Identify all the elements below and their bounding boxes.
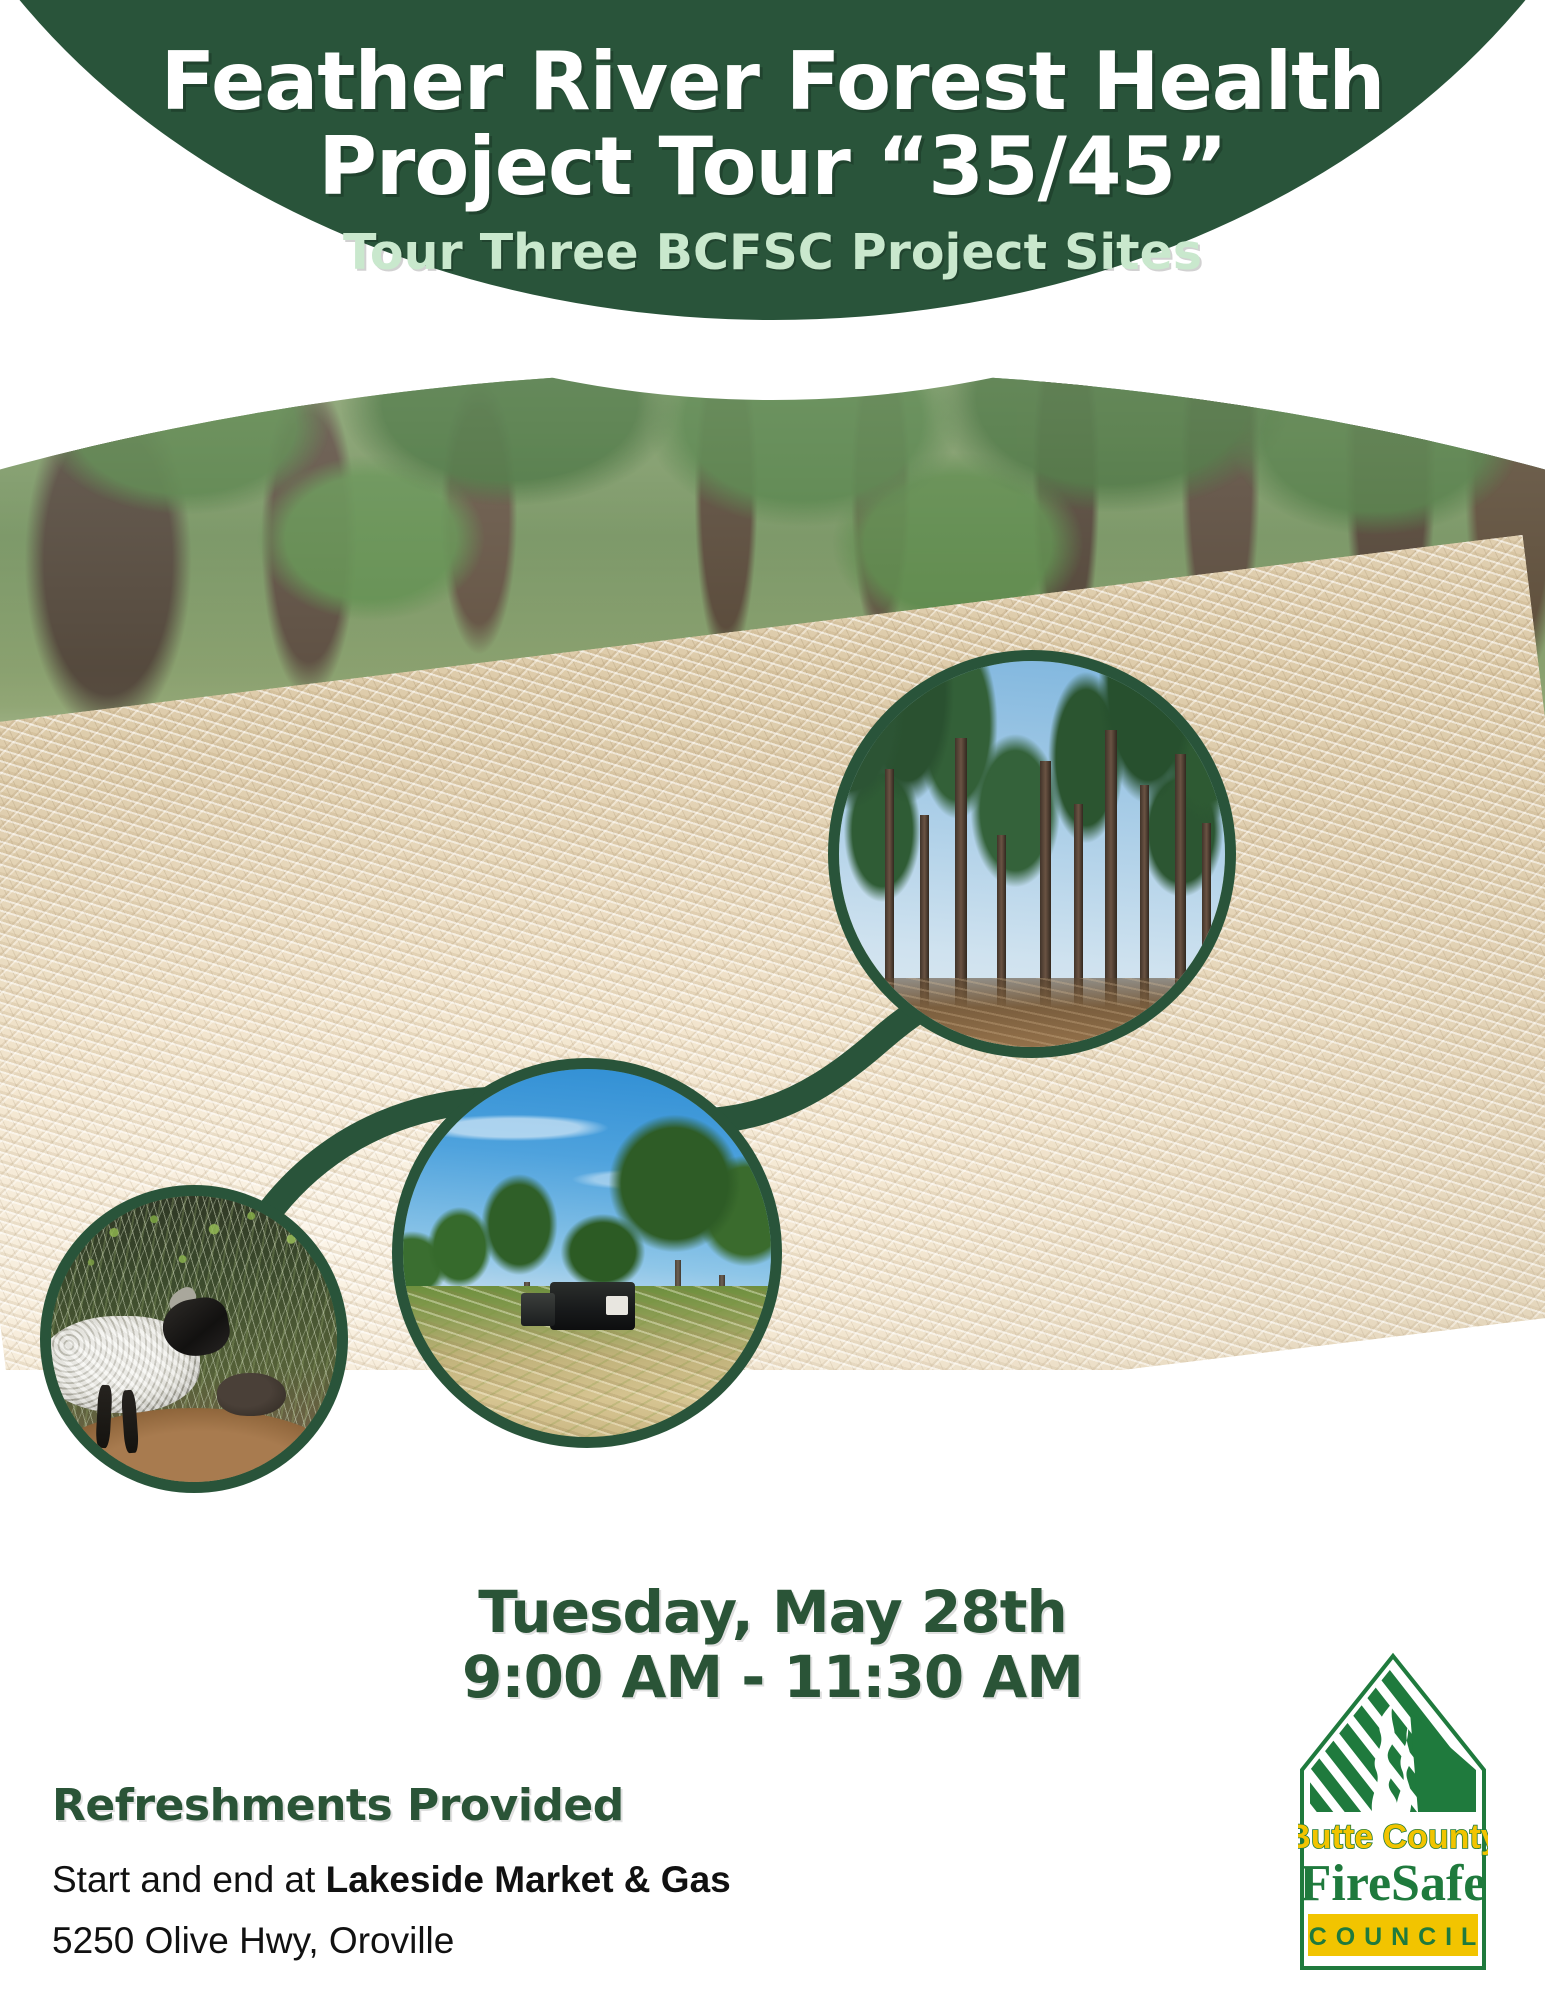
pine-forest-floor [828, 978, 1236, 1058]
logo-text-safe: Safe [1391, 1855, 1486, 1912]
circle-connector-ribbon [0, 640, 1545, 1280]
event-date: Tuesday, May 28th [0, 1580, 1545, 1645]
title-line-2: Project Tour “35/45” [0, 125, 1545, 210]
title-line-1: Feather River Forest Health [161, 35, 1385, 128]
photo-circle-pine-forest [828, 650, 1236, 1058]
page-title: Feather River Forest Health Project Tour… [0, 40, 1545, 210]
meeting-venue: Lakeside Market & Gas [326, 1859, 731, 1900]
second-sheep [217, 1373, 286, 1416]
street-address: 5250 Olive Hwy, Oroville [52, 1914, 731, 1968]
page-subtitle: Tour Three BCFSC Project Sites [0, 224, 1545, 281]
logo-text-council: C O U N C I L [1309, 1923, 1478, 1951]
flyer-root: { "header": { "title_line1": "Feather Ri… [0, 0, 1545, 2000]
header-text-block: Feather River Forest Health Project Tour… [0, 0, 1545, 340]
logo-text-firesafe: FireSafe [1300, 1855, 1487, 1912]
bcfsc-logo: Butte County FireSafe C O U N C I L [1298, 1652, 1488, 1972]
refreshments-note: Refreshments Provided [52, 1780, 731, 1833]
photo-circle-sheep-grazing [40, 1185, 348, 1493]
logo-text-fire: Fire [1300, 1855, 1391, 1912]
photo-circle-masticator [392, 1058, 782, 1448]
masticator-machine [550, 1282, 635, 1330]
meeting-location: Start and end at Lakeside Market & Gas 5… [52, 1853, 731, 1968]
meeting-prefix: Start and end at [52, 1859, 326, 1900]
event-details-block: Refreshments Provided Start and end at L… [52, 1780, 731, 1968]
logo-text-butte-county: Butte County [1298, 1818, 1488, 1856]
